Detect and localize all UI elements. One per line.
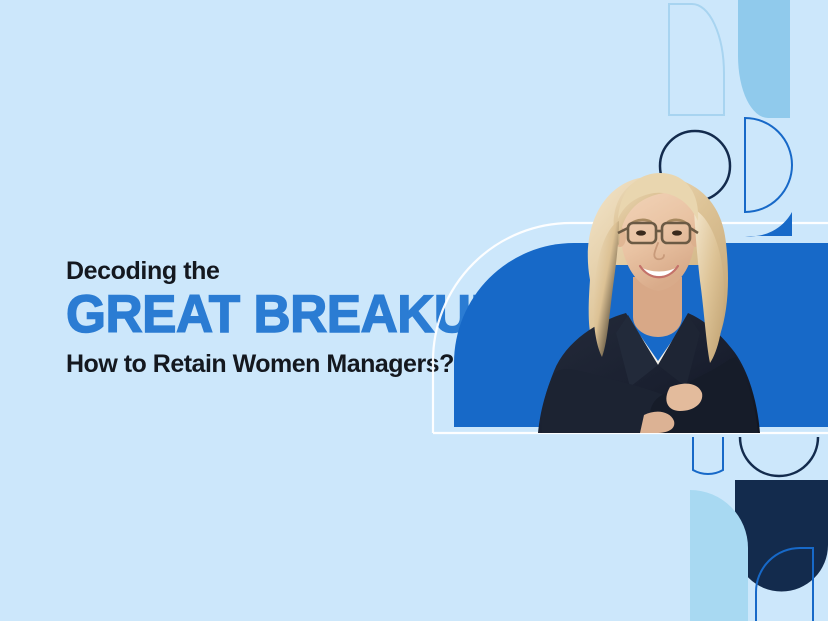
eye-right xyxy=(672,230,682,235)
headline-main: GREAT BREAKUP: xyxy=(66,289,473,341)
blue-arch-outline-bottom xyxy=(756,548,813,621)
blue-quarter-arc-bottom xyxy=(693,437,723,474)
poster-canvas: Decoding the GREAT BREAKUP: How to Retai… xyxy=(0,0,828,621)
filled-arch-top-right xyxy=(738,0,790,118)
light-blue-arch-bottom-left xyxy=(690,490,748,621)
portrait-panel-svg xyxy=(430,165,828,440)
navy-half-disc-filled xyxy=(735,480,828,592)
navy-half-circle-outline-bottom xyxy=(740,437,818,476)
outlined-arch-top-left xyxy=(669,4,724,115)
headline-eyebrow: Decoding the xyxy=(66,258,486,284)
headline-block: Decoding the GREAT BREAKUP: How to Retai… xyxy=(66,258,486,377)
portrait-panel xyxy=(430,165,828,440)
eye-left xyxy=(636,230,646,235)
headline-subtitle: How to Retain Women Managers? xyxy=(66,351,486,377)
